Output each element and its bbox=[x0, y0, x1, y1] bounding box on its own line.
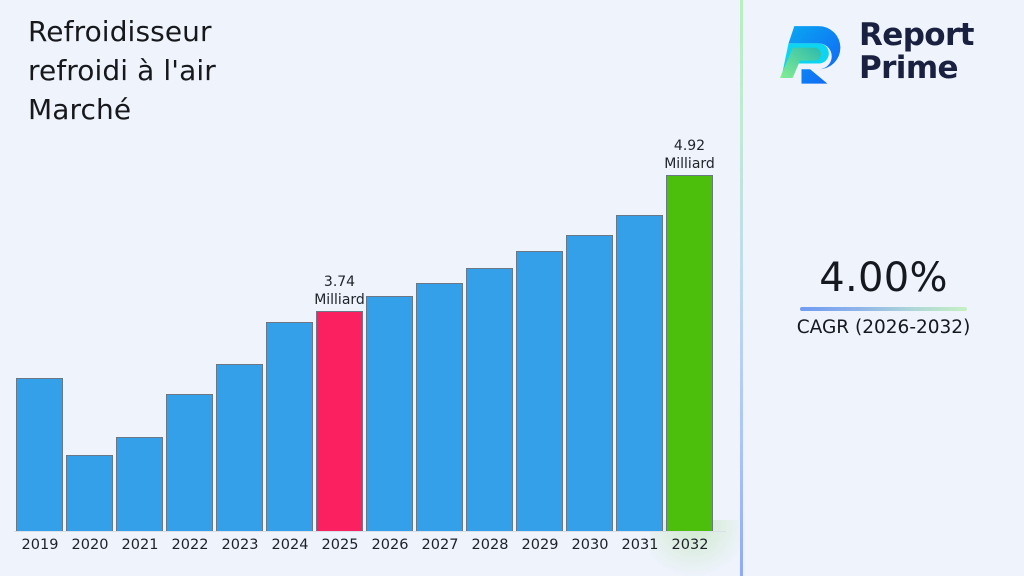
x-tick-2025: 2025 bbox=[315, 534, 365, 556]
x-tick-2022: 2022 bbox=[165, 534, 215, 556]
bar-slot bbox=[565, 0, 615, 531]
cagr-caption: CAGR (2026-2032) bbox=[743, 316, 1024, 340]
bar-value-label-2032: 4.92 Milliard bbox=[664, 137, 715, 173]
bar-2024[interactable] bbox=[266, 322, 313, 531]
bar-2026[interactable] bbox=[366, 296, 413, 531]
chart-baseline bbox=[14, 531, 726, 532]
bar-slot bbox=[415, 0, 465, 531]
x-tick-2020: 2020 bbox=[65, 534, 115, 556]
bar-slot bbox=[265, 0, 315, 531]
bar-slot bbox=[515, 0, 565, 531]
x-tick-2029: 2029 bbox=[515, 534, 565, 556]
bar-2031[interactable] bbox=[616, 215, 663, 531]
bar-2029[interactable] bbox=[516, 251, 563, 531]
bar-2020[interactable] bbox=[66, 455, 113, 531]
bar-slot bbox=[365, 0, 415, 531]
x-tick-2028: 2028 bbox=[465, 534, 515, 556]
summary-panel: Report Prime 4.00% CAGR (2026-2032) bbox=[743, 0, 1024, 576]
bar-2028[interactable] bbox=[466, 268, 513, 531]
bar-2019[interactable] bbox=[16, 378, 63, 531]
bar-slot bbox=[615, 0, 665, 531]
report-prime-r-monogram-icon bbox=[777, 16, 849, 88]
bar-slot bbox=[165, 0, 215, 531]
bar-chart: 3.74 Milliard4.92 Milliard 2019202020212… bbox=[0, 0, 740, 576]
bar-2021[interactable] bbox=[116, 437, 163, 531]
bar-slot: 3.74 Milliard bbox=[315, 0, 365, 531]
brand-name: Report Prime bbox=[859, 19, 974, 85]
bar-2032[interactable]: 4.92 Milliard bbox=[666, 175, 713, 531]
x-tick-2032: 2032 bbox=[665, 534, 715, 556]
bar-slot bbox=[15, 0, 65, 531]
bar-slot: 4.92 Milliard bbox=[665, 0, 715, 531]
bar-2030[interactable] bbox=[566, 235, 613, 531]
bar-slot bbox=[65, 0, 115, 531]
bar-slot bbox=[215, 0, 265, 531]
cagr-divider-rule bbox=[800, 307, 967, 311]
x-tick-2030: 2030 bbox=[565, 534, 615, 556]
x-tick-2027: 2027 bbox=[415, 534, 465, 556]
x-tick-2031: 2031 bbox=[615, 534, 665, 556]
chart-panel: Refroidisseur refroidi à l'air Marché 3.… bbox=[0, 0, 740, 576]
bar-2023[interactable] bbox=[216, 364, 263, 531]
x-tick-2026: 2026 bbox=[365, 534, 415, 556]
x-tick-2019: 2019 bbox=[15, 534, 65, 556]
bar-value-label-2025: 3.74 Milliard bbox=[314, 273, 365, 309]
x-tick-2021: 2021 bbox=[115, 534, 165, 556]
brand-logo: Report Prime bbox=[777, 12, 1007, 92]
bar-2022[interactable] bbox=[166, 394, 213, 531]
x-tick-2023: 2023 bbox=[215, 534, 265, 556]
bar-slot bbox=[115, 0, 165, 531]
cagr-value: 4.00% bbox=[743, 255, 1024, 301]
bar-2025[interactable]: 3.74 Milliard bbox=[316, 311, 363, 531]
bar-slot bbox=[465, 0, 515, 531]
cagr-block: 4.00% CAGR (2026-2032) bbox=[743, 255, 1024, 340]
infographic-canvas: Refroidisseur refroidi à l'air Marché 3.… bbox=[0, 0, 1024, 576]
bar-2027[interactable] bbox=[416, 283, 463, 531]
x-tick-2024: 2024 bbox=[265, 534, 315, 556]
